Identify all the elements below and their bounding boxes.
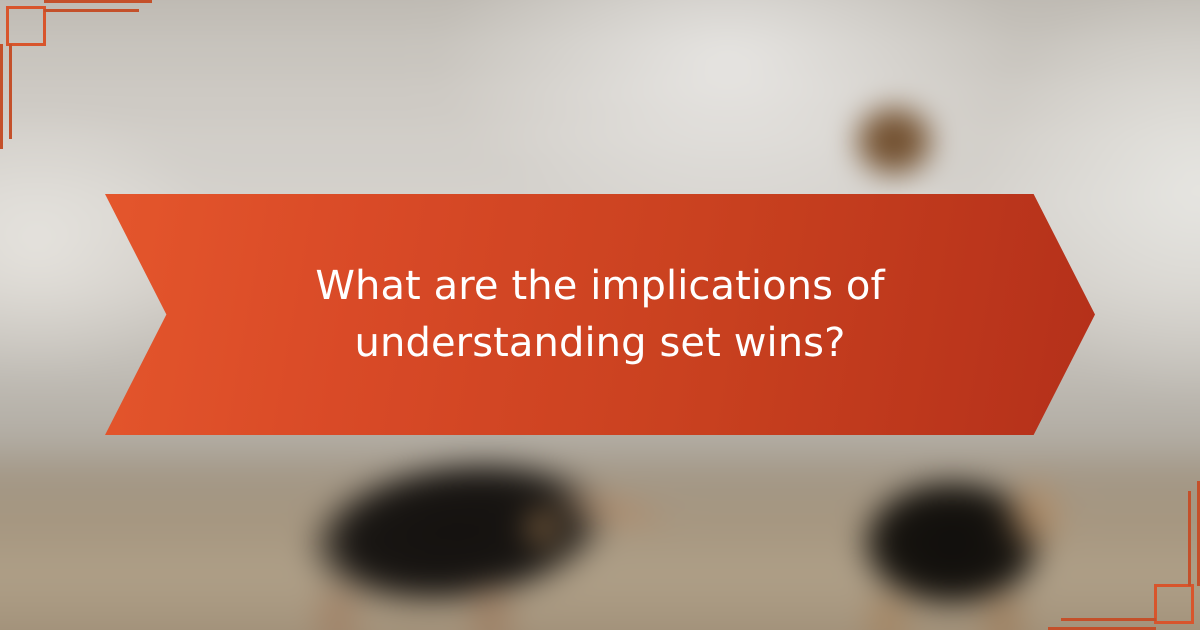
photo-player-right-leg-a — [843, 592, 933, 630]
social-card: What are the implications of understandi… — [0, 0, 1200, 630]
photo-player-left-leg-b — [446, 585, 536, 630]
corner-square-icon — [1154, 584, 1194, 624]
headline-banner: What are the implications of understandi… — [105, 194, 1095, 435]
photo-player-left-leg-a — [293, 585, 383, 630]
headline-text: What are the implications of understandi… — [220, 258, 980, 372]
photo-volleyball — [510, 500, 574, 564]
corner-frame-top-left — [0, 0, 170, 170]
corner-line-vertical-inner — [9, 44, 12, 139]
corner-frame-bottom-right — [1030, 460, 1200, 630]
corner-line-horizontal-inner — [44, 9, 139, 12]
corner-line-horizontal-inner — [1061, 618, 1156, 621]
corner-line-vertical-inner — [1188, 491, 1191, 586]
corner-square-icon — [6, 6, 46, 46]
corner-line-horizontal-outer — [44, 0, 152, 3]
corner-line-vertical-outer — [0, 44, 3, 149]
